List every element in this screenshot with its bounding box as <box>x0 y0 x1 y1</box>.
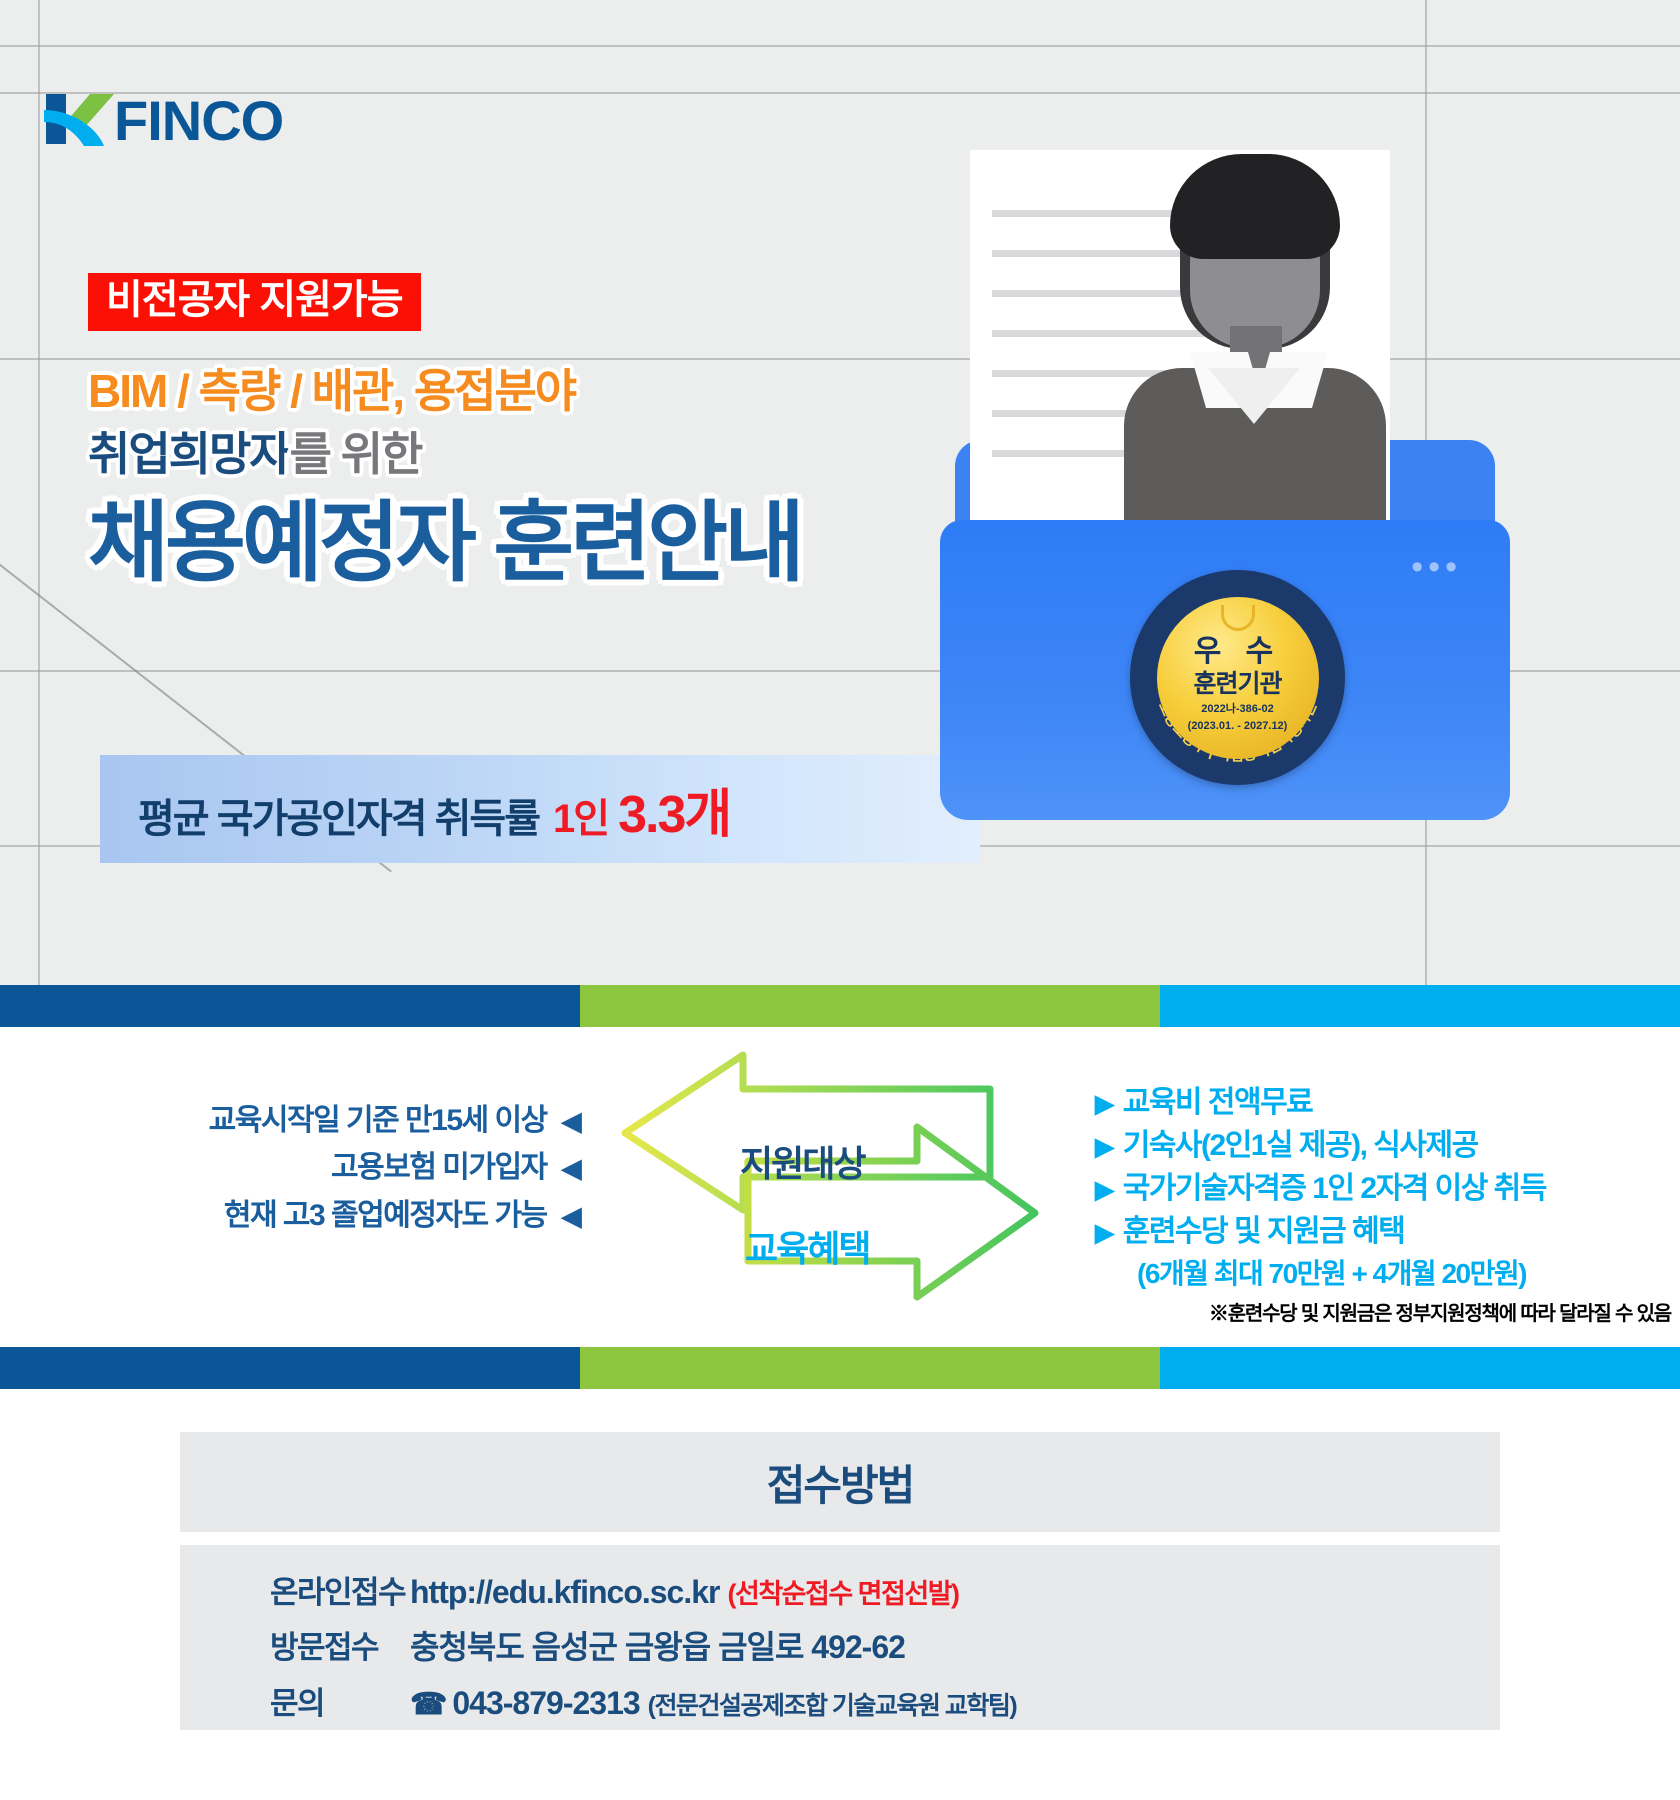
triangle-right-icon: ▶ <box>1095 1133 1113 1161</box>
eligibility-item-label: 고용보험 미가입자 <box>331 1151 547 1184</box>
triangle-right-icon: ▶ <box>1095 1219 1113 1247</box>
benefit-item-label: 기숙사(2인1실 제공), 식사제공 <box>1123 1129 1478 1162</box>
benefit-item-label: 국가기술자격증 1인 2자격 이상 취득 <box>1123 1172 1546 1205</box>
arrow-graphics: 지원대상 교육혜택 <box>615 1047 1045 1312</box>
photo-hair <box>1170 154 1340 259</box>
subtitle-rest: 를 위한 <box>290 428 422 480</box>
subtitle-line: 취업희망자를 위한 <box>88 418 421 484</box>
application-url[interactable]: http://edu.kfinco.sc.kr <box>410 1574 719 1610</box>
apply-row-label: 온라인접수 <box>180 1567 410 1612</box>
apply-heading: 접수방법 <box>767 1452 914 1513</box>
badge-non-major: 비전공자 지원가능 <box>88 273 421 331</box>
apply-row-value: http://edu.kfinco.sc.kr(선착순접수 면접선발) <box>410 1572 959 1611</box>
stat-banner: 평균 국가공인자격 취득률 1인 3.3개 <box>100 755 980 863</box>
list-item: ▶교육비 전액무료 <box>1095 1082 1675 1125</box>
benefits-list: ▶교육비 전액무료 ▶기숙사(2인1실 제공), 식사제공 ▶국가기술자격증 1… <box>1095 1082 1675 1328</box>
stat-value: 3.3개 <box>618 772 730 847</box>
apply-row-label: 문의 <box>180 1678 410 1723</box>
apply-row-value: ☎043-879-2313(전문건설공제조합 기술교육원 교학팀) <box>410 1685 1016 1722</box>
eligibility-item-label: 교육시작일 기준 만15세 이상 <box>209 1104 547 1137</box>
medal-cert-no: 2022나-386-02 <box>1201 703 1274 717</box>
color-bar-segment-navy <box>0 1347 580 1389</box>
color-bar-segment-green <box>580 985 1160 1027</box>
triangle-left-icon: ◀ <box>562 1153 581 1183</box>
poster-root: FINCO 비전공자 지원가능 BIM / 측량 / 배관, 용접분야 취업희망… <box>0 0 1680 1800</box>
middle-band: 교육시작일 기준 만15세 이상 ◀ 고용보험 미가입자 ◀ 현재 고3 졸업예… <box>0 1027 1680 1347</box>
apply-row-label: 방문접수 <box>180 1622 410 1667</box>
medal-face: 우 수 훈련기관 2022나-386-02 (2023.01. - 2027.1… <box>1157 597 1319 759</box>
apply-heading-panel: 접수방법 <box>180 1432 1500 1532</box>
list-item: ▶기숙사(2인1실 제공), 식사제공 <box>1095 1125 1675 1168</box>
benefit-disclaimer: ※훈련수당 및 지원금은 정부지원정책에 따라 달라질 수 있음 <box>1095 1300 1675 1329</box>
hero-section: FINCO 비전공자 지원가능 BIM / 측량 / 배관, 용접분야 취업희망… <box>0 0 1680 985</box>
list-item: ▶국가기술자격증 1인 2자격 이상 취득 <box>1095 1168 1675 1211</box>
ellipsis-icon: ••• <box>1411 548 1462 587</box>
stat-label: 평균 국가공인자격 취득률 <box>138 786 539 844</box>
page-title: 채용예정자 훈련안내 <box>88 495 801 590</box>
benefit-item-label: 교육비 전액무료 <box>1123 1086 1313 1119</box>
list-item: ▶훈련수당 및 지원금 혜택 <box>1095 1211 1675 1254</box>
triangle-right-icon: ▶ <box>1095 1176 1113 1204</box>
arrow-label-eligibility: 지원대상 <box>740 1135 864 1187</box>
apply-row-value: 충청북도 음성군 금왕읍 금일로 492-62 <box>410 1622 905 1668</box>
benefit-item-label: 훈련수당 및 지원금 혜택 <box>1123 1215 1405 1248</box>
color-bar-bottom <box>0 1347 1680 1389</box>
contact-phone[interactable]: 043-879-2313 <box>452 1685 639 1721</box>
stat-unit: 1인 <box>553 786 608 844</box>
hero-illustration: ••• <box>940 140 1540 800</box>
medal-grade: 우 수 <box>1194 637 1282 667</box>
table-row: 문의 ☎043-879-2313(전문건설공제조합 기술교육원 교학팀) <box>180 1678 1500 1723</box>
arrow-label-benefits: 교육혜택 <box>745 1220 869 1272</box>
table-row: 방문접수 충청북도 음성군 금왕읍 금일로 492-62 <box>180 1622 1500 1668</box>
medal-cert-period: (2023.01. - 2027.12) <box>1188 720 1288 734</box>
list-item: 현재 고3 졸업예정자도 가능 ◀ <box>60 1192 580 1239</box>
triangle-left-icon: ◀ <box>562 1106 581 1136</box>
color-bar-segment-cyan <box>1160 985 1680 1027</box>
table-row: 온라인접수 http://edu.kfinco.sc.kr(선착순접수 면접선발… <box>180 1567 1500 1612</box>
color-bar-top <box>0 985 1680 1027</box>
contact-department: (전문건설공제조합 기술교육원 교학팀) <box>648 1692 1017 1720</box>
color-bar-segment-navy <box>0 985 580 1027</box>
svg-text:FINCO: FINCO <box>114 89 283 150</box>
document-card <box>970 150 1390 550</box>
award-medal: 고용노동부 | 직업능력심사평가원 우 수 훈련기관 2022나-386-02 … <box>1130 570 1345 785</box>
triangle-left-icon: ◀ <box>562 1201 581 1231</box>
kfinco-logo: FINCO <box>40 88 340 150</box>
medal-institution: 훈련기관 <box>1193 671 1281 699</box>
color-bar-segment-cyan <box>1160 1347 1680 1389</box>
apply-details-panel: 온라인접수 http://edu.kfinco.sc.kr(선착순접수 면접선발… <box>180 1545 1500 1730</box>
list-item: 고용보험 미가입자 ◀ <box>60 1144 580 1191</box>
triangle-right-icon: ▶ <box>1095 1090 1113 1118</box>
grid-line-horizontal <box>0 45 1680 47</box>
trophy-icon <box>1221 605 1255 631</box>
stat-text: 평균 국가공인자격 취득률 1인 3.3개 <box>138 772 730 847</box>
subtitle-strong: 취업희망자 <box>88 428 290 480</box>
benefit-allowance-detail: (6개월 최대 70만원 + 4개월 20만원) <box>1095 1254 1675 1294</box>
list-item: 교육시작일 기준 만15세 이상 ◀ <box>60 1097 580 1144</box>
telephone-icon: ☎ <box>410 1688 446 1721</box>
field-line: BIM / 측량 / 배관, 용접분야 <box>88 355 575 421</box>
eligibility-list: 교육시작일 기준 만15세 이상 ◀ 고용보험 미가입자 ◀ 현재 고3 졸업예… <box>60 1097 580 1239</box>
application-note: (선착순접수 면접선발) <box>727 1579 958 1609</box>
eligibility-item-label: 현재 고3 졸업예정자도 가능 <box>224 1199 547 1232</box>
folder-front-panel: ••• <box>940 520 1510 820</box>
student-photo <box>1090 146 1420 566</box>
color-bar-segment-green <box>580 1347 1160 1389</box>
visit-address: 충청북도 음성군 금왕읍 금일로 492-62 <box>410 1629 905 1665</box>
